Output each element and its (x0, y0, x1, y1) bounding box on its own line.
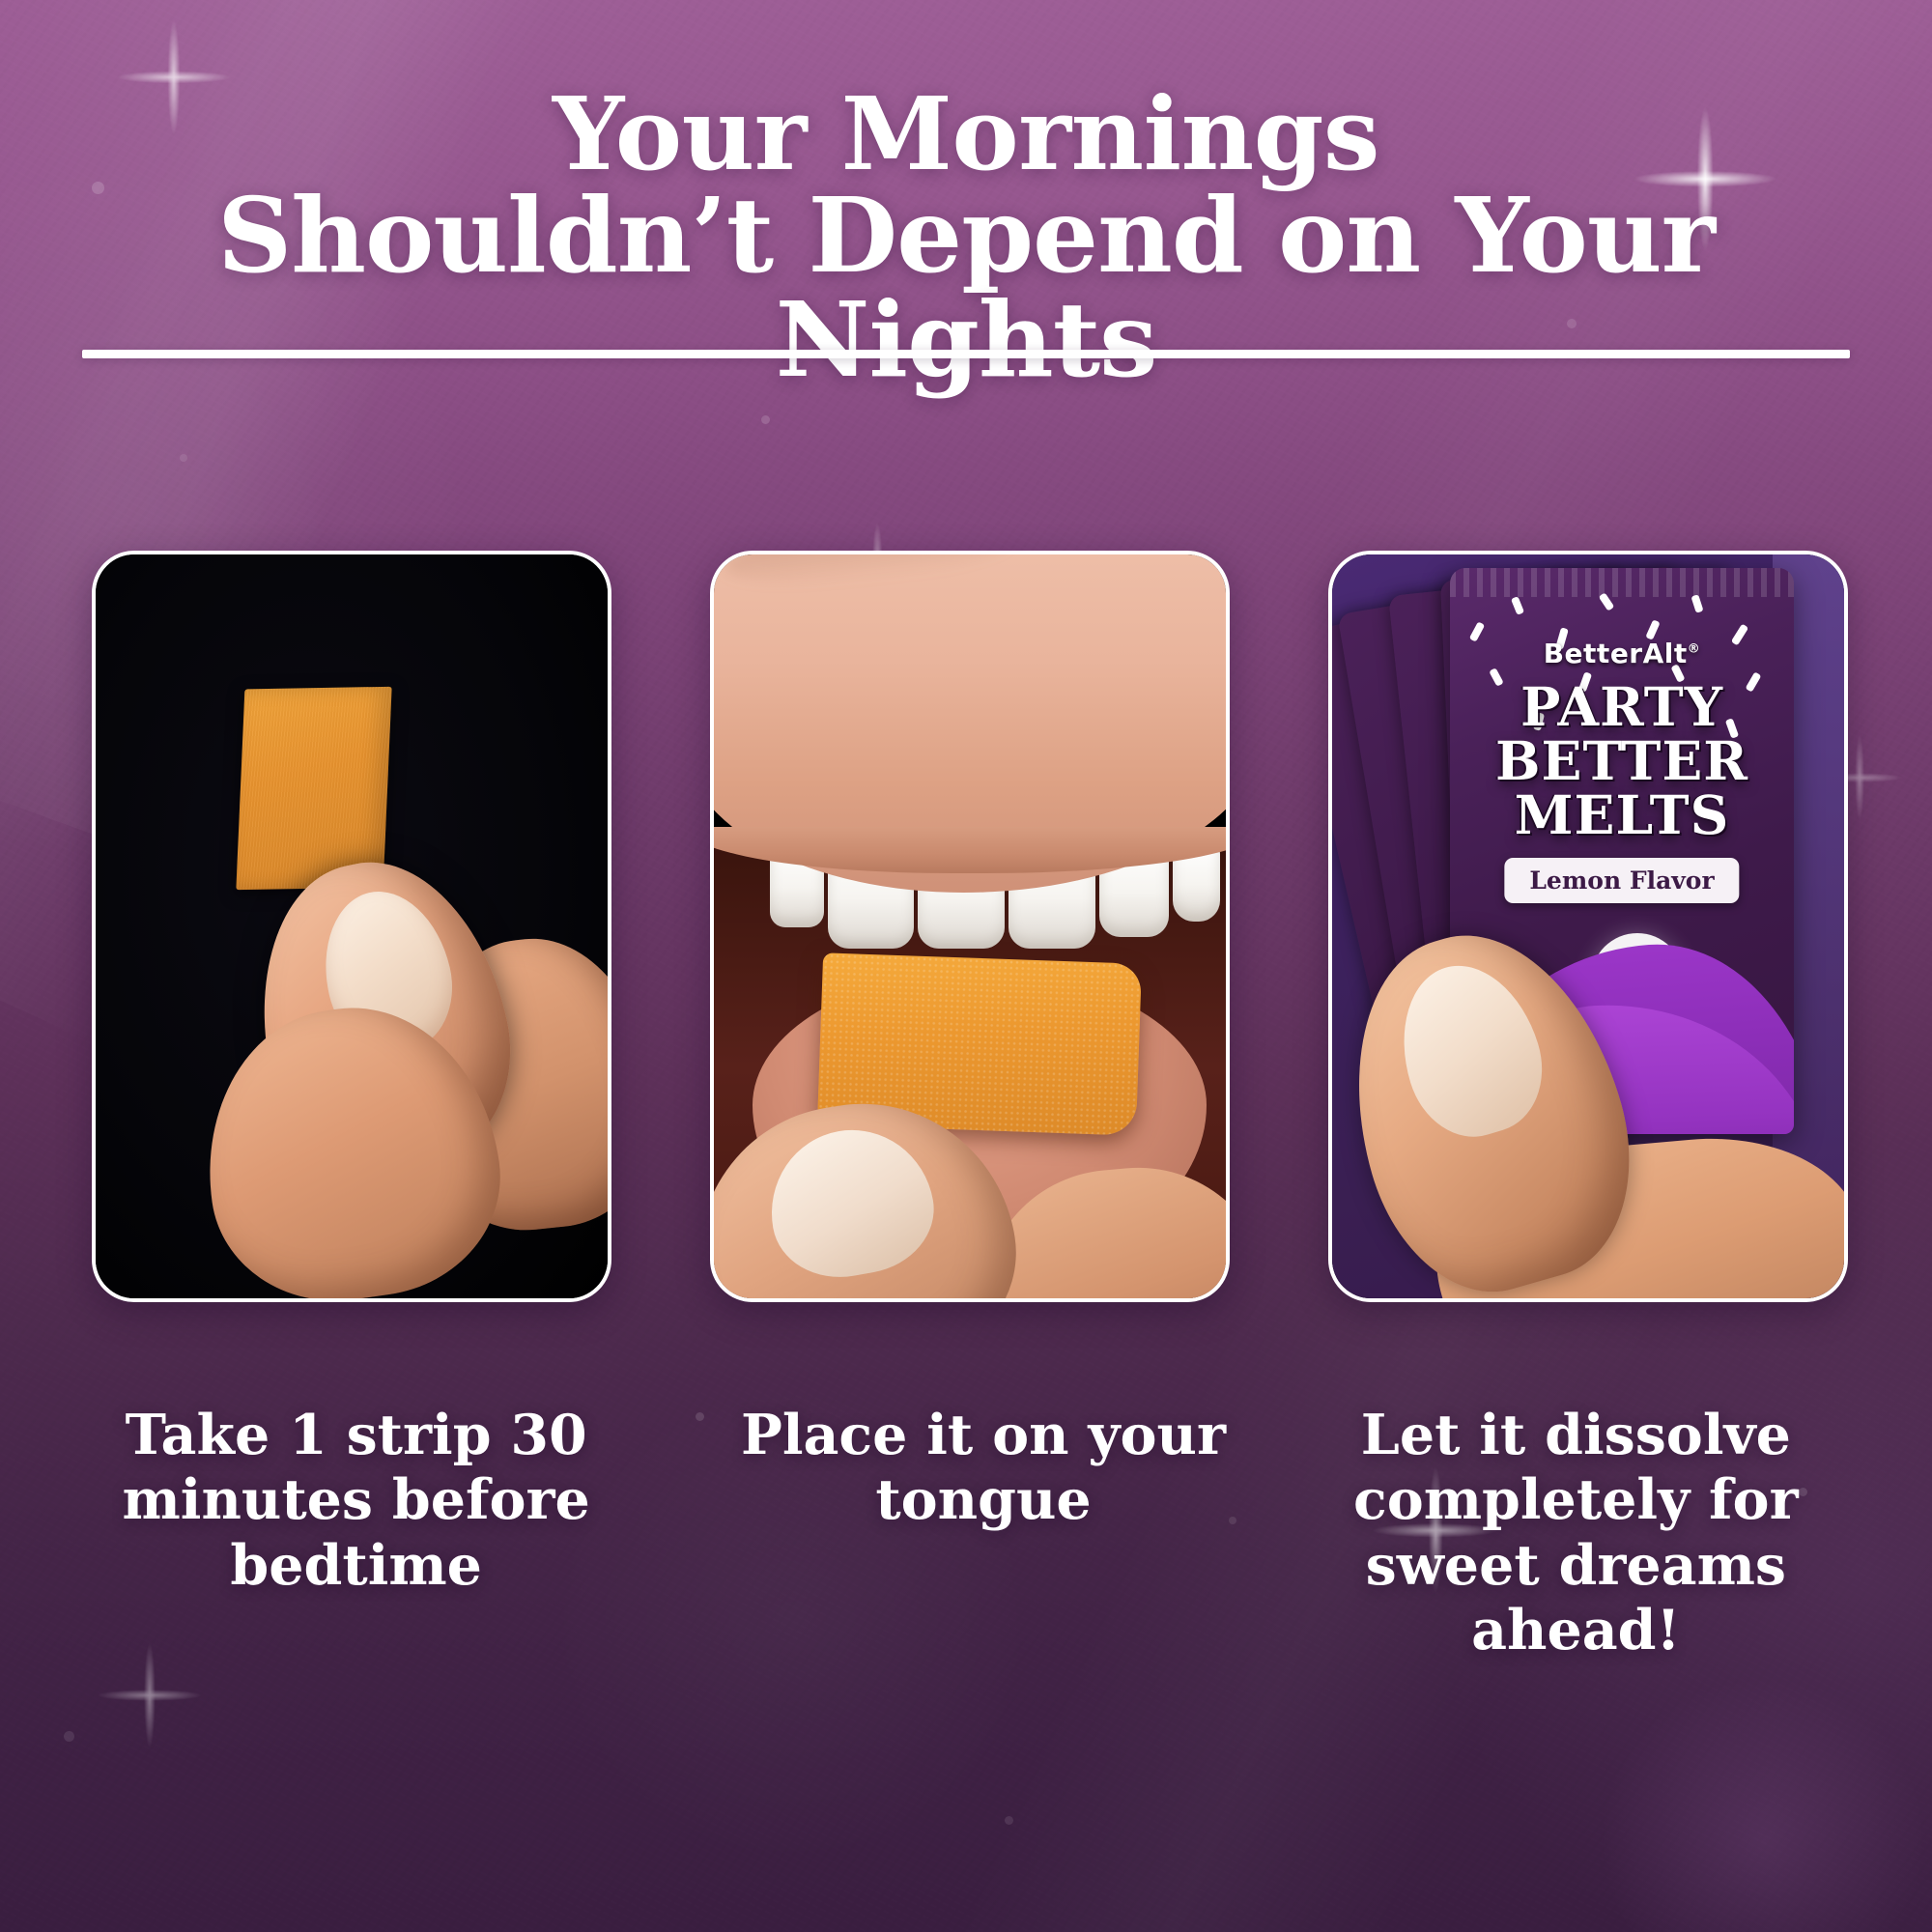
confetti-speck (1690, 594, 1703, 613)
product-name: PARTY BETTER MELTS (1450, 680, 1794, 842)
step-caption-2: Place it on your tongue (685, 1403, 1281, 1662)
step-image-1 (92, 551, 611, 1302)
step-caption-row: Take 1 strip 30 minutes before bedtime P… (58, 1403, 1874, 1662)
lip-shadow (722, 554, 1015, 595)
product-name-line-3: MELTS (1450, 788, 1794, 842)
product-name-line-2: BETTER (1450, 734, 1794, 788)
step-caption-1: Take 1 strip 30 minutes before bedtime (58, 1403, 685, 1662)
step-image-2 (710, 551, 1230, 1302)
flavor-badge: Lemon Flavor (1504, 858, 1739, 903)
sparkle-dot (1005, 1816, 1013, 1825)
brand-name: BetterAlt (1544, 638, 1688, 669)
sachet-tear-notch (1450, 568, 1794, 597)
headline-line-1: Your Mornings (39, 83, 1893, 185)
sparkle-dot (180, 454, 187, 462)
glow-blob (1604, 1681, 1922, 1932)
sparkle-dot (64, 1731, 74, 1742)
step-image-3: BetterAlt® PARTY BETTER MELTS Lemon Flav… (1328, 551, 1848, 1302)
step-caption-3: Let it dissolve completely for sweet dre… (1282, 1403, 1874, 1662)
infographic-canvas: Your Mornings Shouldn’t Depend on Your N… (0, 0, 1932, 1932)
registered-mark-icon: ® (1688, 642, 1701, 657)
headline-line-2: Shouldn’t Depend on Your Nights (39, 185, 1893, 393)
title-divider (82, 350, 1850, 358)
step-image-row: BetterAlt® PARTY BETTER MELTS Lemon Flav… (92, 551, 1840, 1294)
product-name-line-1: PARTY (1450, 680, 1794, 734)
confetti-speck (1511, 596, 1524, 615)
brand-logo: BetterAlt® (1450, 638, 1794, 669)
dissolvable-strip (236, 687, 391, 890)
page-title: Your Mornings Shouldn’t Depend on Your N… (0, 83, 1932, 393)
sparkle-dot (761, 415, 770, 424)
